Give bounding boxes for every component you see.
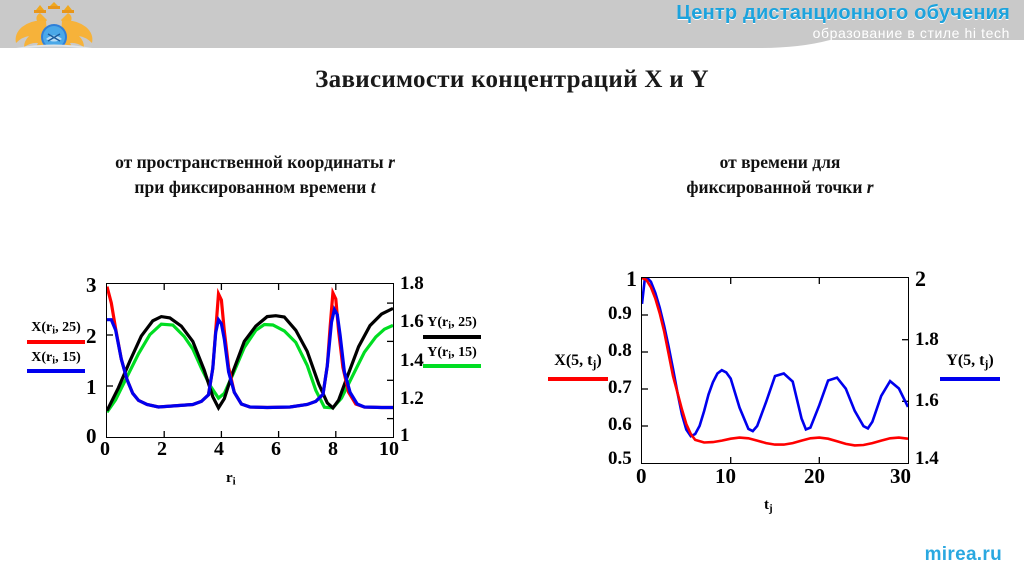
right-chart-legend-x: X(5, tj) bbox=[528, 352, 628, 387]
right-chart-ytick-right-2: 2 bbox=[915, 266, 926, 292]
brand-block: Центр дистанционного обучения образовани… bbox=[676, 3, 1010, 40]
legend-text-tail: , 15) bbox=[55, 350, 81, 365]
brand-title: Центр дистанционного обучения bbox=[676, 3, 1010, 23]
legend-text-tail: , 25) bbox=[451, 315, 477, 330]
caption-right-line2: фиксированной точки bbox=[686, 177, 866, 197]
right-chart-xtick-30: 30 bbox=[890, 464, 911, 489]
legend-swatch-black bbox=[423, 335, 481, 339]
legend-swatch-red bbox=[27, 340, 85, 344]
left-chart-legend-y: Y(ri, 25) Y(ri, 15) bbox=[406, 315, 498, 374]
caption-right-var-r: r bbox=[867, 177, 874, 197]
right-chart-xaxis-label-sub: j bbox=[769, 503, 773, 515]
left-chart-legend-x: X(ri, 25) X(ri, 15) bbox=[10, 320, 102, 379]
left-chart-xaxis-label-sub: i bbox=[233, 476, 236, 488]
curve-X-5-tj bbox=[642, 278, 908, 445]
right-chart-ytick-right-1.4: 1.4 bbox=[915, 448, 939, 470]
left-chart-xaxis-label-main: r bbox=[226, 470, 233, 486]
right-chart-ytick-0.5: 0.5 bbox=[608, 448, 632, 470]
legend-label-Y-5-tj: Y(5, tj) bbox=[920, 352, 1020, 371]
caption-left-var-t: t bbox=[371, 177, 376, 197]
legend-text-main: X(r bbox=[31, 320, 52, 335]
legend-text-tail: ) bbox=[596, 352, 601, 369]
legend-text-main: Y(r bbox=[427, 315, 448, 330]
legend-item-Y-ri-15: Y(ri, 15) bbox=[406, 345, 498, 369]
left-chart-xtick-6: 6 bbox=[271, 438, 281, 461]
legend-swatch-green bbox=[423, 364, 481, 368]
left-chart-xtick-0: 0 bbox=[100, 438, 110, 461]
legend-text-main: Y(5, t bbox=[946, 352, 984, 369]
left-chart-ytick-0: 0 bbox=[86, 424, 97, 449]
legend-swatch-red bbox=[548, 377, 608, 381]
legend-swatch-blue bbox=[27, 369, 85, 373]
legend-text-tail: , 15) bbox=[451, 345, 477, 360]
left-chart-xaxis-label: ri bbox=[226, 470, 236, 488]
right-chart-xtick-0: 0 bbox=[636, 464, 647, 489]
right-chart-xtick-20: 20 bbox=[804, 464, 825, 489]
legend-item-X-ri-25: X(ri, 25) bbox=[10, 320, 102, 344]
page-title: Зависимости концентраций X и Y bbox=[0, 66, 1024, 94]
left-chart-xtick-4: 4 bbox=[214, 438, 224, 461]
legend-text-tail: ) bbox=[988, 352, 993, 369]
left-chart-xtick-10: 10 bbox=[379, 438, 399, 461]
legend-label-X-ri-15: X(ri, 15) bbox=[10, 350, 102, 367]
right-chart-ytick-right-1.6: 1.6 bbox=[915, 390, 939, 412]
left-chart-curves bbox=[107, 284, 393, 437]
page-header: Центр дистанционного обучения образовани… bbox=[0, 0, 1024, 64]
legend-label-X-5-tj: X(5, tj) bbox=[528, 352, 628, 371]
caption-right: от времени для фиксированной точки r bbox=[580, 150, 980, 201]
left-chart-ytick-right-1: 1 bbox=[400, 425, 410, 447]
left-chart-xtick-2: 2 bbox=[157, 438, 167, 461]
legend-text-tail: , 25) bbox=[55, 320, 81, 335]
left-chart-ytick-right-1.2: 1.2 bbox=[400, 388, 424, 410]
footer-site-link[interactable]: mirea.ru bbox=[925, 544, 1002, 566]
legend-text-main: X(r bbox=[31, 350, 52, 365]
legend-text-main: Y(r bbox=[427, 345, 448, 360]
legend-swatch-blue bbox=[940, 377, 1000, 381]
right-chart-curves bbox=[642, 278, 908, 463]
right-chart-ytick-0.6: 0.6 bbox=[608, 414, 632, 436]
left-chart-xtick-8: 8 bbox=[328, 438, 338, 461]
legend-item-X-5-tj: X(5, tj) bbox=[528, 352, 628, 381]
legend-item-Y-5-tj: Y(5, tj) bbox=[920, 352, 1020, 381]
legend-label-X-ri-25: X(ri, 25) bbox=[10, 320, 102, 337]
caption-left-var-r: r bbox=[388, 152, 395, 172]
caption-left: от пространственной координаты r при фик… bbox=[20, 150, 490, 201]
legend-item-Y-ri-25: Y(ri, 25) bbox=[406, 315, 498, 339]
right-chart-ytick-right-1.8: 1.8 bbox=[915, 329, 939, 351]
right-chart-xaxis-label: tj bbox=[764, 497, 773, 515]
legend-label-Y-ri-25: Y(ri, 25) bbox=[406, 315, 498, 332]
caption-left-line1: от пространственной координаты bbox=[115, 152, 388, 172]
right-chart-legend-y: Y(5, tj) bbox=[920, 352, 1020, 387]
legend-text-main: X(5, t bbox=[554, 352, 592, 369]
legend-item-X-ri-15: X(ri, 15) bbox=[10, 350, 102, 374]
right-chart-xtick-10: 10 bbox=[715, 464, 736, 489]
caption-right-line1: от времени для bbox=[720, 152, 841, 172]
caption-left-line2: при фиксированном времени bbox=[134, 177, 370, 197]
header-curve-decoration bbox=[0, 40, 1024, 64]
right-chart-ytick-0.9: 0.9 bbox=[608, 303, 632, 325]
legend-label-Y-ri-15: Y(ri, 15) bbox=[406, 345, 498, 362]
left-chart-ytick-3: 3 bbox=[86, 273, 97, 298]
left-chart-ytick-right-1.8: 1.8 bbox=[400, 273, 424, 295]
brand-subtitle: образование в стиле hi tech bbox=[676, 26, 1010, 40]
right-chart-ytick-1: 1 bbox=[626, 266, 637, 292]
